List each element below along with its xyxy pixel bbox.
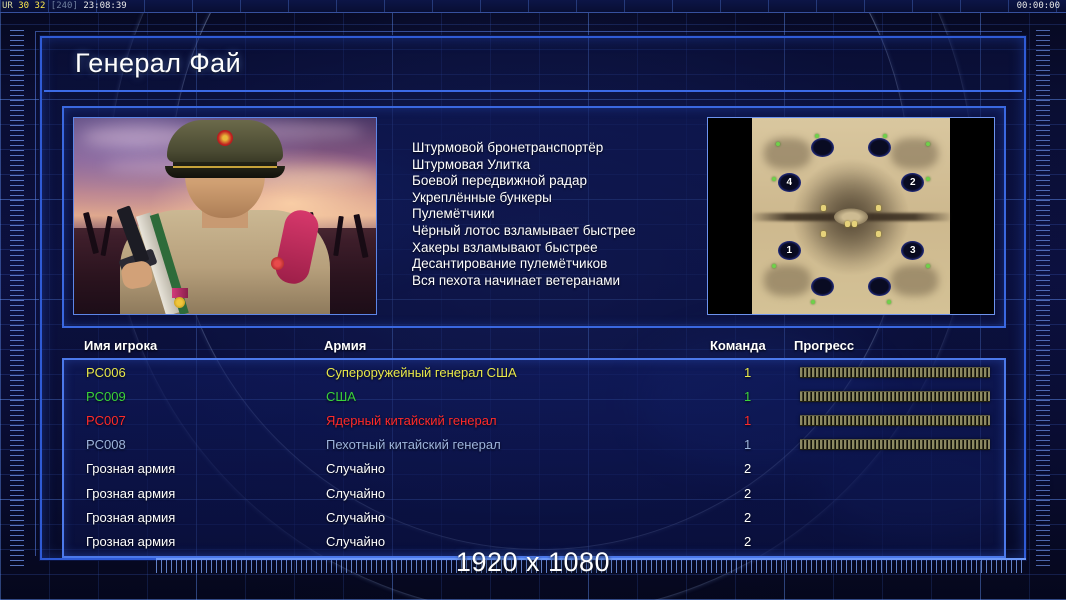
map-image: 4 2 1 3	[752, 118, 950, 315]
player-army: США	[326, 389, 356, 404]
portrait-figure	[120, 146, 330, 314]
table-row[interactable]: PC007Ядерный китайский генерал1	[64, 408, 1004, 432]
map-oil-derrick	[876, 231, 881, 237]
bonus-item: Боевой передвижной радар	[412, 173, 712, 190]
progress-bar	[800, 439, 990, 450]
page-title: Генерал Фай	[75, 48, 241, 79]
bonus-item: Вся пехота начинает ветеранами	[412, 273, 712, 290]
bonus-item: Штурмовой бронетранспортёр	[412, 140, 712, 157]
player-list-headers: Имя игрока Армия Команда Прогресс	[62, 338, 1006, 358]
map-resource-marker	[883, 134, 887, 138]
map-terrain-patch	[891, 265, 939, 297]
map-oil-derrick	[852, 221, 857, 227]
map-terrain-patch	[891, 138, 939, 170]
player-list: PC006Супероружейный генерал США1PC009США…	[62, 358, 1006, 558]
map-oil-derrick	[876, 205, 881, 211]
player-army: Ядерный китайский генерал	[326, 413, 497, 428]
map-resource-marker	[926, 142, 930, 146]
general-portrait	[73, 117, 377, 315]
player-team: 2	[744, 461, 751, 476]
player-army: Случайно	[326, 510, 385, 525]
player-progress	[800, 367, 990, 378]
map-oil-derrick	[845, 221, 850, 227]
bonus-item: Укреплённые бункеры	[412, 190, 712, 207]
player-progress	[800, 415, 990, 426]
player-team: 1	[744, 365, 751, 380]
fps-value-secondary: 32	[35, 1, 46, 11]
player-army: Случайно	[326, 486, 385, 501]
player-team: 2	[744, 486, 751, 501]
player-progress	[800, 439, 990, 450]
player-team: 1	[744, 437, 751, 452]
status-strip-ticks	[0, 0, 1066, 12]
map-start-position-1: 1	[778, 241, 801, 260]
player-progress	[800, 463, 990, 474]
bonus-item: Чёрный лотос взламывает быстрее	[412, 223, 712, 240]
portrait-cap-badge	[217, 130, 233, 146]
map-start-position	[868, 138, 891, 157]
column-header-progress: Прогресс	[794, 338, 854, 353]
player-progress	[800, 512, 990, 523]
player-name: Грозная армия	[86, 461, 175, 476]
map-resource-marker	[776, 142, 780, 146]
progress-bar	[800, 415, 990, 426]
fps-label: UR	[2, 1, 13, 11]
player-name: PC006	[86, 365, 126, 380]
player-army: Супероружейный генерал США	[326, 365, 517, 380]
map-preview[interactable]: 4 2 1 3	[707, 117, 995, 315]
map-start-position-4: 4	[778, 173, 801, 192]
column-header-name: Имя игрока	[84, 338, 157, 353]
bonus-item: Пулемётчики	[412, 206, 712, 223]
map-oil-derrick	[821, 205, 826, 211]
player-army: Случайно	[326, 461, 385, 476]
map-resource-marker	[815, 134, 819, 138]
player-progress	[800, 536, 990, 547]
fps-value: 30	[18, 1, 29, 11]
bonus-item: Штурмовая Улитка	[412, 157, 712, 174]
map-terrain-patch	[764, 138, 812, 170]
column-header-team: Команда	[710, 338, 766, 353]
table-row[interactable]: PC006Супероружейный генерал США1	[64, 360, 1004, 384]
game-clock: 23:08:39	[83, 1, 126, 11]
table-row[interactable]: Грозная армияСлучайно2	[64, 481, 1004, 505]
title-bar: Генерал Фай	[44, 40, 1022, 92]
map-resource-marker	[926, 177, 930, 181]
top-status-strip: UR 30 32 [240] 23:08:39 00:00:00	[0, 0, 1066, 13]
map-start-position	[868, 277, 891, 296]
map-oil-derrick	[821, 231, 826, 237]
map-resource-marker	[811, 300, 815, 304]
portrait-star-insignia	[271, 257, 284, 270]
player-army: Пехотный китайский генерал	[326, 437, 501, 452]
table-row[interactable]: Грозная армияСлучайно2	[64, 505, 1004, 529]
player-name: Грозная армия	[86, 510, 175, 525]
resolution-overlay: 1920 x 1080	[0, 547, 1066, 578]
fps-bracket-value: [240]	[51, 1, 78, 11]
player-name: PC007	[86, 413, 126, 428]
game-lobby-screen: UR 30 32 [240] 23:08:39 00:00:00 Генерал…	[0, 0, 1066, 600]
player-name: Грозная армия	[86, 486, 175, 501]
general-bonus-list: Штурмовой бронетранспортёр Штурмовая Ули…	[412, 140, 712, 289]
player-progress	[800, 391, 990, 402]
map-terrain-patch	[764, 265, 812, 297]
progress-bar	[800, 391, 990, 402]
table-row[interactable]: Грозная армияСлучайно2	[64, 457, 1004, 481]
player-name: PC009	[86, 389, 126, 404]
map-start-position-2: 2	[901, 173, 924, 192]
map-resource-marker	[887, 300, 891, 304]
table-row[interactable]: PC008Пехотный китайский генерал1	[64, 433, 1004, 457]
map-start-position	[811, 138, 834, 157]
table-row[interactable]: PC009США1	[64, 384, 1004, 408]
player-team: 2	[744, 510, 751, 525]
portrait-medal	[174, 297, 185, 308]
player-progress	[800, 488, 990, 499]
player-name: PC008	[86, 437, 126, 452]
general-info-panel: Штурмовой бронетранспортёр Штурмовая Ули…	[62, 106, 1006, 328]
fps-counter: UR 30 32 [240] 23:08:39	[2, 1, 127, 12]
map-resource-marker	[772, 177, 776, 181]
bonus-item: Хакеры взламывают быстрее	[412, 240, 712, 257]
map-start-position-3: 3	[901, 241, 924, 260]
player-team: 1	[744, 389, 751, 404]
progress-bar	[800, 367, 990, 378]
map-start-position	[811, 277, 834, 296]
bonus-item: Десантирование пулемётчиков	[412, 256, 712, 273]
session-timer: 00:00:00	[1017, 1, 1060, 12]
player-team: 1	[744, 413, 751, 428]
column-header-army: Армия	[324, 338, 366, 353]
